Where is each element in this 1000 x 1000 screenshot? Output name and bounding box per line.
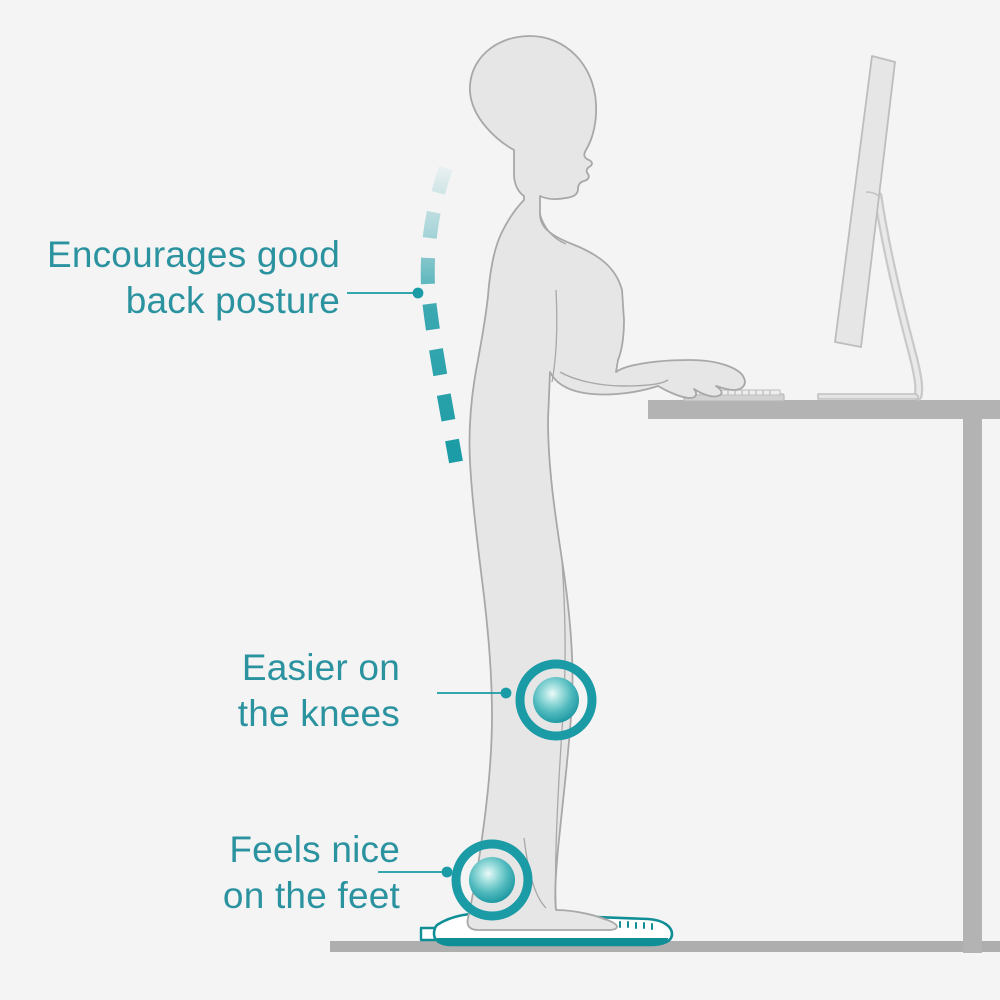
callout-label-back-posture: Encourages goodback posture [40, 232, 340, 324]
connector-back-posture [347, 288, 423, 299]
computer-monitor-side-view [818, 56, 919, 399]
infographic-canvas: Encourages goodback posture Easier onthe… [0, 0, 1000, 1000]
callout-feet-line1: Feels nice [229, 829, 400, 870]
callout-feet-line2: on the feet [223, 875, 400, 916]
dashed-spine-marker [428, 168, 456, 462]
standing-person-silhouette [467, 36, 744, 930]
callout-knees-line2: the knees [238, 693, 400, 734]
callout-back-posture-line1: Encourages good [47, 234, 340, 275]
callout-back-posture-line2: back posture [126, 280, 340, 321]
standing-desk [648, 400, 1000, 953]
callout-label-feet: Feels niceon the feet [100, 827, 400, 919]
callout-label-knees: Easier onthe knees [140, 645, 400, 737]
callout-knees-line1: Easier on [242, 647, 400, 688]
